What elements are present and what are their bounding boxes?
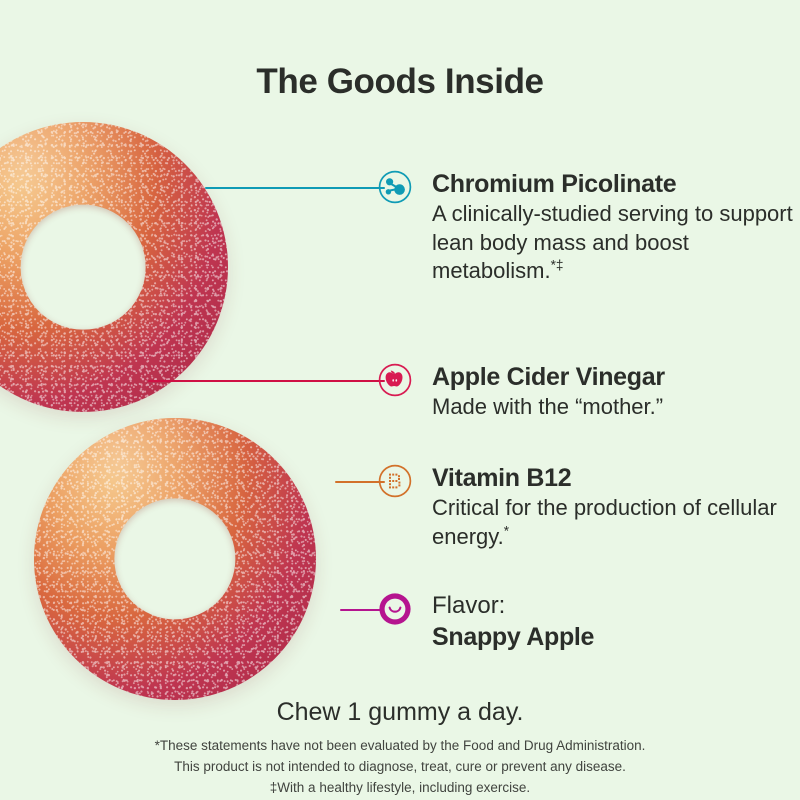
callout-body-text: A clinically-studied serving to support … <box>432 201 793 283</box>
smile-face-icon <box>378 592 412 626</box>
page-title: The Goods Inside <box>0 62 800 102</box>
disclaimer-line-3: ‡With a healthy lifestyle, including exe… <box>0 778 800 799</box>
callout-flavor: Flavor: Snappy Apple <box>378 592 594 651</box>
callout-body: Critical for the production of cellular … <box>432 494 800 551</box>
callout-title: Apple Cider Vinegar <box>432 363 665 391</box>
disclaimer-line-1: *These statements have not been evaluate… <box>0 736 800 757</box>
callout-title: Chromium Picolinate <box>432 170 800 198</box>
disclaimer-block: *These statements have not been evaluate… <box>0 736 800 799</box>
callout-chromium-picolinate: Chromium Picolinate A clinically-studied… <box>378 170 800 286</box>
callout-title: Vitamin B12 <box>432 464 800 492</box>
directions-text: Chew 1 gummy a day. <box>0 698 800 727</box>
callout-body: Made with the “mother.” <box>432 393 665 422</box>
callout-vitamin-b12: Vitamin B12 Critical for the production … <box>378 464 800 551</box>
gummy-hole <box>114 498 235 619</box>
footnote-marker: *‡ <box>551 258 564 273</box>
footnote-marker: * <box>504 523 509 538</box>
callout-body: A clinically-studied serving to support … <box>432 200 800 286</box>
callout-text-block: Chromium Picolinate A clinically-studied… <box>432 170 800 286</box>
vitamin-b-dotted-icon <box>378 464 412 498</box>
connector-line-chromium <box>205 187 385 189</box>
connector-line-acv <box>148 380 385 382</box>
flavor-value: Snappy Apple <box>432 623 594 652</box>
infographic-canvas: The Goods Inside Chromium Picolinate <box>0 0 800 800</box>
molecule-icon <box>378 170 412 204</box>
callout-text-block: Flavor: Snappy Apple <box>432 592 594 651</box>
gummy-ring-top <box>0 122 228 412</box>
callout-text-block: Apple Cider Vinegar Made with the “mothe… <box>432 363 665 422</box>
disclaimer-line-2: This product is not intended to diagnose… <box>0 757 800 778</box>
apple-icon <box>378 363 412 397</box>
flavor-label: Flavor: <box>432 592 594 620</box>
callout-apple-cider-vinegar: Apple Cider Vinegar Made with the “mothe… <box>378 363 665 422</box>
callout-body-text: Critical for the production of cellular … <box>432 495 777 549</box>
gummy-hole <box>21 205 146 330</box>
callout-text-block: Vitamin B12 Critical for the production … <box>432 464 800 551</box>
gummy-ring-bottom <box>34 418 316 700</box>
